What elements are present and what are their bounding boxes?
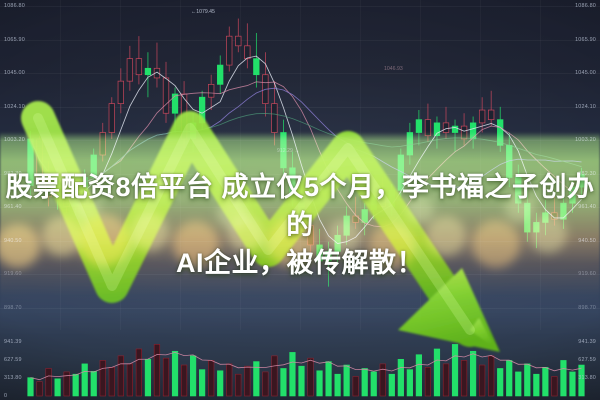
headline-text: 股票配资8倍平台 成立仅5个月，李书福之子创办的 AI企业，被传解散！ [0,168,600,282]
banner-stage: 1086.801065.901045.001024.101003.20982.3… [0,0,600,400]
headline-line-2: AI企业，被传解散！ [0,244,600,282]
headline-line-1: 股票配资8倍平台 成立仅5个月，李书福之子创办的 [5,172,594,240]
